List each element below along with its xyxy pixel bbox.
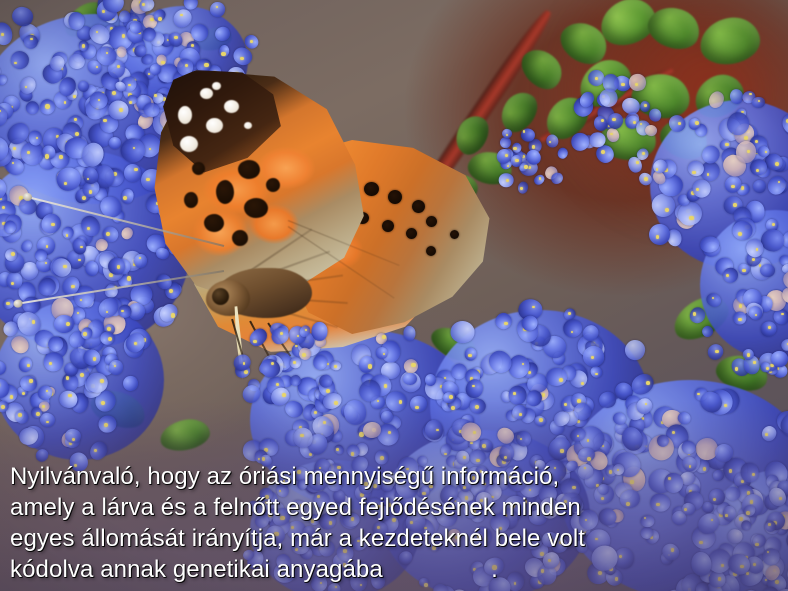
caption-line-3: egyes állomását irányítja, már a kezdete… xyxy=(0,523,788,554)
caption-line-1: Nyilvánvaló, hogy az óriási mennyiségű i… xyxy=(0,461,788,492)
caption-line-4: kódolva annak genetikai anyagába . xyxy=(0,554,788,585)
caption-line-2: amely a lárva és a felnőtt egyed fejlődé… xyxy=(0,492,788,523)
caption-block: Nyilvánvaló, hogy az óriási mennyiségű i… xyxy=(0,461,788,591)
photo-canvas: Nyilvánvaló, hogy az óriási mennyiségű i… xyxy=(0,0,788,591)
